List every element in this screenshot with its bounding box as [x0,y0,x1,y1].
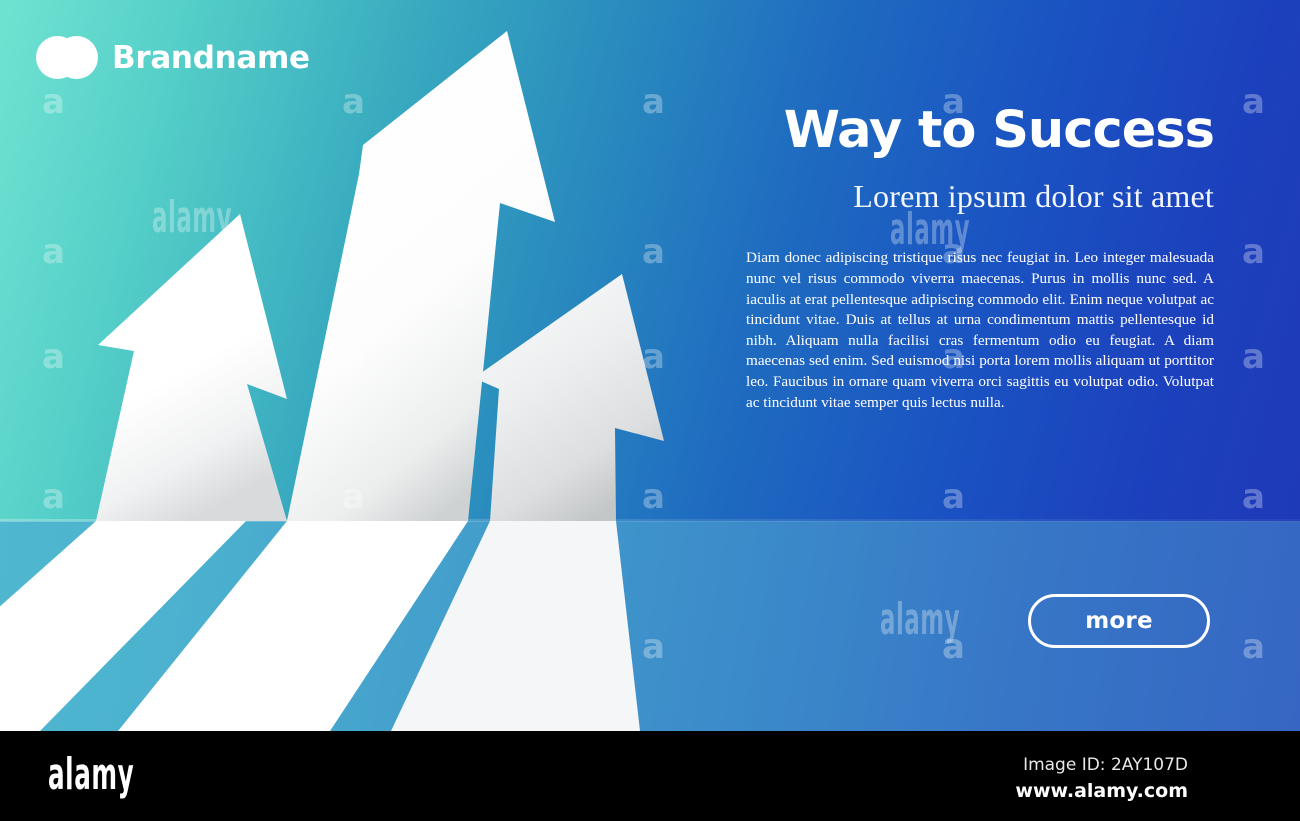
screenshot-root: Brandname Way to Success Lorem ipsum dol… [0,0,1300,821]
arrow-left [96,214,287,521]
arrow-right [474,274,664,521]
page-subtitle: Lorem ipsum dolor sit amet [746,177,1214,215]
body-paragraph: Diam donec adipiscing tristique risus ne… [746,248,1214,413]
more-button-label: more [1085,608,1153,634]
alamy-url-label: www.alamy.com [1015,780,1188,802]
hero-copy: Way to Success Lorem ipsum dolor sit ame… [746,104,1214,413]
two-overlapping-circles-icon [36,36,98,79]
alamy-logo-text: alamy [48,753,134,797]
alamy-footer-bar: alamy Image ID: 2AY107D www.alamy.com [0,731,1300,821]
more-button[interactable]: more [1028,594,1210,648]
image-id-label: Image ID: 2AY107D [1023,755,1188,775]
brand-name: Brandname [112,40,310,76]
brand-logo[interactable]: Brandname [36,36,310,79]
page-title: Way to Success [746,104,1214,158]
